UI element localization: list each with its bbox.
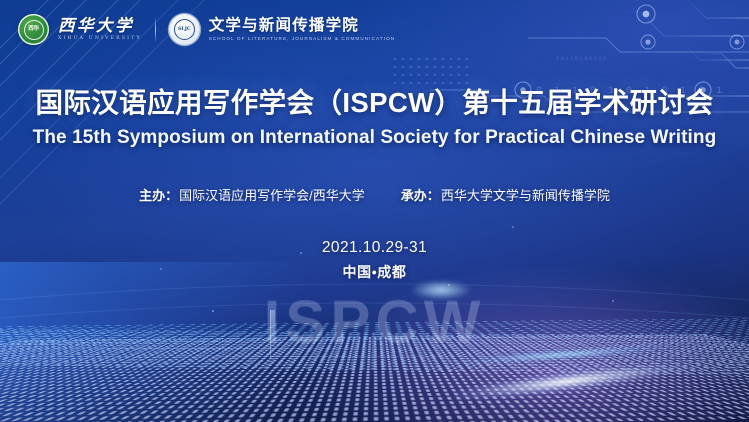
organizer-value: 西华大学文学与新闻传播学院 (441, 186, 610, 206)
organizer-label: 主办： (139, 186, 178, 206)
vertical-divider-icon (155, 17, 156, 43)
svg-text:10110100110: 10110100110 (556, 55, 608, 62)
logo-name-cn: 文学与新闻传播学院 (209, 17, 395, 34)
seal-inner-text: SLJC (174, 19, 195, 40)
seal-inner-text: 西华 (24, 20, 44, 40)
logo-name-en: SCHOOL OF LITERATURE, JOURNALISM & COMMU… (209, 35, 395, 42)
organizer-value: 国际汉语应用写作学会/西华大学 (179, 186, 365, 206)
sparkle-icon (512, 226, 514, 228)
organizer-coordinator: 承办： 西华大学文学与新闻传播学院 (401, 186, 610, 206)
poster-canvas: 0 1 1 0 1 0 1 0 1 0 1 10110100110 (0, 0, 749, 422)
organizer-label: 承办： (401, 186, 440, 206)
logo-bar: 西华 西华大学 XIHUA UNIVERSITY SLJC 文学与新闻传播学院 … (18, 14, 395, 45)
event-location: 中国•成都 (0, 262, 749, 282)
logo-school-of-literature[interactable]: 文学与新闻传播学院 SCHOOL OF LITERATURE, JOURNALI… (209, 17, 395, 42)
page-title-en: The 15th Symposium on International Soci… (0, 126, 749, 150)
logo-name-en: XIHUA UNIVERSITY (58, 35, 142, 42)
event-date: 2021.10.29-31 (0, 237, 749, 259)
organizer-host: 主办： 国际汉语应用写作学会/西华大学 (139, 186, 365, 206)
logo-name-cn: 西华大学 (58, 17, 142, 34)
xihua-university-seal-icon: 西华 (18, 14, 49, 45)
horizon-streak-icon (0, 348, 420, 349)
organizer-row: 主办： 国际汉语应用写作学会/西华大学 承办： 西华大学文学与新闻传播学院 (0, 186, 749, 206)
page-title-cn: 国际汉语应用写作学会（ISPCW）第十五届学术研讨会 (0, 86, 749, 120)
school-of-literature-seal-icon: SLJC (169, 14, 200, 45)
logo-xihua-university[interactable]: 西华大学 XIHUA UNIVERSITY (58, 17, 142, 42)
